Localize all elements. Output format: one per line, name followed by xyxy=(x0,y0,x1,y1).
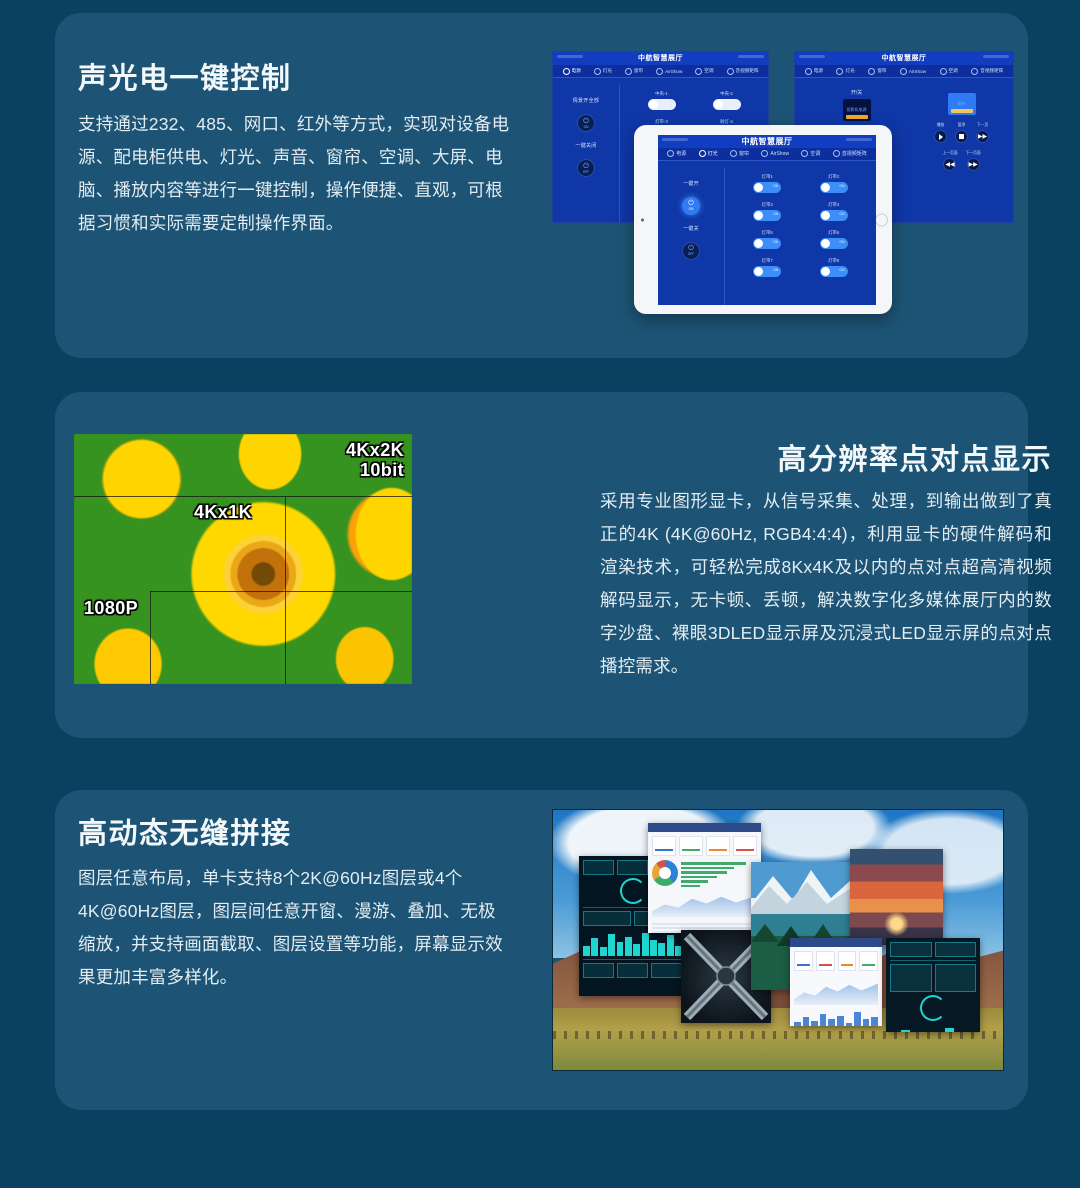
switch-label: 灯带4 xyxy=(828,202,839,208)
nav-item-light[interactable]: 灯光 xyxy=(699,150,718,157)
device-toggle-label: 开/关 xyxy=(851,89,862,96)
control-nav-bar: 电源 灯光 窗帘 AirShow 空调 音视频矩阵 xyxy=(553,65,768,78)
toggle-state: ON xyxy=(839,184,844,188)
matrix-icon xyxy=(833,150,840,157)
kpi-card xyxy=(794,951,813,971)
layer-window-light-chart-dashboard[interactable] xyxy=(790,938,882,1026)
next-page-icon: ▶▶ xyxy=(967,158,980,171)
control-screen-titlebar: 中航智慧展厅 xyxy=(795,52,1013,65)
toggle-knob xyxy=(714,100,723,109)
area-chart xyxy=(794,979,878,1005)
toggle-switch[interactable]: ON xyxy=(753,210,781,221)
toggle-switch[interactable] xyxy=(648,99,676,110)
dark-kpi-row xyxy=(890,964,976,992)
nav-item-ac[interactable]: 空调 xyxy=(801,150,820,157)
section-title-one-key-control: 声光电一键控制 xyxy=(78,55,292,97)
power-icon xyxy=(667,150,674,157)
area-chart xyxy=(652,891,757,917)
tablet-device: 中航智慧展厅 电源 灯光 窗帘 AirShow xyxy=(634,125,892,314)
control-nav-bar: 电源 灯光 窗帘 AirShow 空调 音视频矩阵 xyxy=(795,65,1013,78)
bulb-icon xyxy=(836,68,843,75)
nav-label-matrix: 音视频矩阵 xyxy=(736,68,759,74)
nav-label-power: 电源 xyxy=(572,68,581,74)
page-nav-label: 上一页面 xyxy=(942,151,957,156)
dashboard-header-bar xyxy=(648,823,761,832)
toggle-switch[interactable]: ON xyxy=(820,182,848,193)
toggle-state: ON xyxy=(773,184,778,188)
nav-label-matrix: 音视频矩阵 xyxy=(980,68,1003,74)
scene-column: 一键开 ⏻ ON 一键关 ⏻ OFF xyxy=(658,168,725,305)
toggle-knob xyxy=(821,267,830,276)
switch-cell: 灯带3 ON xyxy=(737,202,798,221)
switch-label: 灯带5 xyxy=(762,230,773,236)
prev-page-icon: ◀◀ xyxy=(943,158,956,171)
gauge-ring-icon xyxy=(620,878,646,904)
nav-label-light: 灯光 xyxy=(603,68,612,74)
toggle-knob xyxy=(821,183,830,192)
scene-on-state: ON xyxy=(584,125,589,129)
power-icon xyxy=(805,68,812,75)
page-next[interactable]: 下一页面 ▶▶ xyxy=(966,151,981,171)
nav-item-curtain[interactable]: 窗帘 xyxy=(868,68,886,75)
resolution-label-4kx2k: 4Kx2K xyxy=(346,440,404,461)
nav-label-airshow: AirShow xyxy=(665,69,682,74)
airshow-icon xyxy=(900,68,907,75)
charts-row xyxy=(648,860,761,887)
switch-cell: 中央-2 xyxy=(697,91,756,110)
resolution-comparison-image: 4Kx2K 10bit 4Kx1K 1080P xyxy=(74,434,412,684)
transport-pause[interactable]: 暂停 xyxy=(955,123,968,143)
transport-play[interactable]: 播放 xyxy=(934,123,947,143)
switch-cell: 中央-1 xyxy=(632,91,691,110)
scene-on-label: 情景开全部 xyxy=(573,97,600,104)
section-body-point-to-point-display: 采用专业图形显卡，从信号采集、处理，到输出做到了真正的4K (4K@60Hz, … xyxy=(600,485,1052,683)
projector-tile-label: 投影机电源 xyxy=(847,107,867,113)
nav-item-airshow[interactable]: AirShow xyxy=(900,68,926,75)
playback-column: 幕布 播放 暂停 下一页 ▶▶ xyxy=(916,89,1007,223)
nav-label-light: 灯光 xyxy=(708,150,718,157)
switch-label: 灯带7 xyxy=(762,258,773,264)
toggle-knob xyxy=(754,183,763,192)
scene-column: 情景开全部 ⏻ ON 一键关闭 ⏻ OFF xyxy=(553,85,620,223)
toggle-switch[interactable]: ON xyxy=(753,266,781,277)
curtain-icon xyxy=(868,68,875,75)
grid-line-vertical-4kx1k xyxy=(285,496,286,684)
airshow-icon xyxy=(656,68,663,75)
gauge-ring-icon xyxy=(920,995,946,1021)
screen-tile-label: 幕布 xyxy=(958,101,966,107)
toggle-switch[interactable] xyxy=(713,99,741,110)
toggle-switch[interactable]: ON xyxy=(753,182,781,193)
toggle-knob xyxy=(754,239,763,248)
control-brand-title: 中航智慧展厅 xyxy=(553,53,768,63)
toggle-knob xyxy=(649,100,658,109)
nav-item-matrix[interactable]: 音视频矩阵 xyxy=(727,68,759,75)
grid-line-vertical-1080p xyxy=(150,591,151,684)
scene-off-button[interactable]: ⏻ OFF xyxy=(577,159,595,177)
nav-item-curtain[interactable]: 窗帘 xyxy=(730,150,749,157)
dark-kpi-row xyxy=(890,942,976,957)
nav-label-power: 电源 xyxy=(814,68,823,74)
toggle-state: ON xyxy=(839,212,844,216)
nav-item-airshow[interactable]: AirShow xyxy=(761,150,789,157)
dashboard-header-bar xyxy=(790,938,882,947)
switch-label: 灯带2 xyxy=(828,174,839,180)
switch-cell: 灯带1 ON xyxy=(737,174,798,193)
control-system-visual: 中航智慧展厅 电源 灯光 窗帘 AirShow 空调 xyxy=(552,47,1012,314)
horizontal-bar-chart xyxy=(681,860,757,887)
control-brand-title: 中航智慧展厅 xyxy=(658,136,876,147)
section-body-one-key-control: 支持通过232、485、网口、红外等方式，实现对设备电源、配电柜供电、灯光、声音… xyxy=(78,108,510,240)
camera-icon xyxy=(641,218,644,221)
bulb-icon xyxy=(699,150,706,157)
nav-item-power[interactable]: 电源 xyxy=(805,68,823,75)
switch-cell: 灯带2 ON xyxy=(804,174,865,193)
transport-label: 播放 xyxy=(937,123,945,128)
nav-item-light[interactable]: 灯光 xyxy=(836,68,854,75)
kpi-card xyxy=(706,836,730,856)
scene-on-label: 一键开 xyxy=(683,180,699,187)
transport-row: 播放 暂停 下一页 ▶▶ xyxy=(934,123,989,143)
donut-chart xyxy=(652,860,678,886)
toggle-state: ON xyxy=(773,268,778,272)
switch-cell: 灯带4 ON xyxy=(804,202,865,221)
scene-off-label: 一键关 xyxy=(683,225,699,232)
nav-item-power[interactable]: 电源 xyxy=(563,68,581,75)
nav-label-ac: 空调 xyxy=(949,68,958,74)
grid-line-horizontal-1080p xyxy=(150,591,412,592)
toggle-knob xyxy=(754,211,763,220)
transport-label: 下一页 xyxy=(977,123,988,128)
toggle-state: ON xyxy=(839,240,844,244)
scene-on-state: ON xyxy=(689,207,694,211)
scene-off-state: OFF xyxy=(583,170,589,174)
nav-item-matrix[interactable]: 音视频矩阵 xyxy=(833,150,867,157)
switch-label: 灯带6 xyxy=(828,230,839,236)
ac-icon xyxy=(801,150,808,157)
dark-bar-chart xyxy=(890,1025,976,1032)
nav-label-power: 电源 xyxy=(676,150,686,157)
toggle-state: ON xyxy=(773,212,778,216)
toggle-knob xyxy=(821,211,830,220)
nav-label-ac: 空调 xyxy=(810,150,820,157)
switch-label: 灯带8 xyxy=(828,258,839,264)
switch-label: 中央-1 xyxy=(655,91,668,97)
switch-label: 灯带1 xyxy=(762,174,773,180)
scene-off-label: 一键关闭 xyxy=(575,142,596,149)
switch-label: 灯带3 xyxy=(762,202,773,208)
scene-on-button[interactable]: ⏻ ON xyxy=(682,197,700,215)
nav-item-ac[interactable]: 空调 xyxy=(940,68,958,75)
control-nav-bar: 电源 灯光 窗帘 AirShow 空调 xyxy=(658,148,876,161)
transport-next[interactable]: 下一页 ▶▶ xyxy=(976,123,989,143)
nav-label-light: 灯光 xyxy=(845,68,854,74)
nav-item-light[interactable]: 灯光 xyxy=(594,68,612,75)
toggle-knob xyxy=(754,267,763,276)
nav-item-ac[interactable]: 空调 xyxy=(695,68,713,75)
resolution-label-1080p: 1080P xyxy=(84,598,138,619)
kpi-card xyxy=(816,951,835,971)
kpi-card xyxy=(679,836,703,856)
nav-label-airshow: AirShow xyxy=(909,69,926,74)
tablet-control-screen: 中航智慧展厅 电源 灯光 窗帘 AirShow xyxy=(658,135,876,305)
control-brand-title: 中航智慧展厅 xyxy=(795,53,1013,63)
screen-tile[interactable]: 幕布 xyxy=(948,93,976,115)
toggle-state: ON xyxy=(839,268,844,272)
section-title-point-to-point-display: 高分辨率点对点显示 xyxy=(777,436,1052,478)
nav-label-ac: 空调 xyxy=(704,68,713,74)
kpi-card-row xyxy=(790,947,882,975)
resolution-label-10bit: 10bit xyxy=(360,460,404,481)
switch-label: 中央-2 xyxy=(720,91,733,97)
toggle-knob xyxy=(821,239,830,248)
nav-label-curtain: 窗帘 xyxy=(739,150,749,157)
scene-off-state: OFF xyxy=(688,252,694,256)
scene-off-button[interactable]: ⏻ OFF xyxy=(682,242,700,260)
nav-item-airshow[interactable]: AirShow xyxy=(656,68,682,75)
dark-kpi-row xyxy=(583,963,682,978)
control-screen-titlebar: 中航智慧展厅 xyxy=(553,52,768,65)
layer-window-light-bi-dashboard[interactable] xyxy=(648,823,761,933)
vertical-bar-chart xyxy=(794,1009,878,1026)
page-nav-label: 下一页面 xyxy=(966,151,981,156)
layer-window-sunset-photo[interactable] xyxy=(850,849,943,945)
projector-power-tile[interactable]: 投影机电源 xyxy=(843,99,871,121)
toggle-switch[interactable]: ON xyxy=(820,266,848,277)
switch-cell: 灯带7 ON xyxy=(737,258,798,277)
transport-label: 暂停 xyxy=(958,123,966,128)
toggle-switch[interactable]: ON xyxy=(753,238,781,249)
matrix-icon xyxy=(727,68,734,75)
layer-window-dark-dashboard-right[interactable] xyxy=(886,938,980,1032)
ac-icon xyxy=(940,68,947,75)
bulb-icon xyxy=(594,68,601,75)
kpi-card xyxy=(733,836,757,856)
kpi-card-row xyxy=(648,832,761,860)
section-body-seamless-splicing: 图层任意布局，单卡支持8个2K@60Hz图层或4个4K@60Hz图层，图层间任意… xyxy=(78,862,510,994)
toggle-switch[interactable]: ON xyxy=(820,210,848,221)
dark-bar-chart xyxy=(583,930,682,956)
switch-cell: 灯带8 ON xyxy=(804,258,865,277)
nav-label-curtain: 窗帘 xyxy=(877,68,886,74)
play-icon xyxy=(934,130,947,143)
control-screen-titlebar: 中航智慧展厅 xyxy=(658,135,876,148)
ac-icon xyxy=(695,68,702,75)
matrix-icon xyxy=(971,68,978,75)
power-icon xyxy=(563,68,570,75)
switch-cell: 灯带5 ON xyxy=(737,230,798,249)
video-wall-visual xyxy=(552,809,1004,1071)
airshow-icon xyxy=(761,150,768,157)
page-nav-row: 上一页面 ◀◀ 下一页面 ▶▶ xyxy=(942,151,980,171)
curtain-icon xyxy=(730,150,737,157)
nav-label-airshow: AirShow xyxy=(770,151,789,157)
nav-label-matrix: 音视频矩阵 xyxy=(842,150,867,157)
toggle-switch[interactable]: ON xyxy=(820,238,848,249)
nav-item-power[interactable]: 电源 xyxy=(667,150,686,157)
toggle-state: ON xyxy=(773,240,778,244)
switch-grid: 灯带1 ON 灯带2 ON 灯带3 xyxy=(725,168,876,305)
control-screen-body: 一键开 ⏻ ON 一键关 ⏻ OFF 灯带1 xyxy=(658,161,876,305)
kpi-card xyxy=(838,951,857,971)
grid-line-horizontal-4kx1k xyxy=(74,496,412,497)
section-title-seamless-splicing: 高动态无缝拼接 xyxy=(78,810,292,852)
next-icon: ▶▶ xyxy=(976,130,989,143)
stop-icon xyxy=(955,130,968,143)
curtain-icon xyxy=(625,68,632,75)
home-button[interactable] xyxy=(875,213,888,226)
scene-on-button[interactable]: ⏻ ON xyxy=(577,114,595,132)
nav-label-curtain: 窗帘 xyxy=(634,68,643,74)
kpi-card xyxy=(859,951,878,971)
nav-item-curtain[interactable]: 窗帘 xyxy=(625,68,643,75)
page-prev[interactable]: 上一页面 ◀◀ xyxy=(942,151,957,171)
resolution-label-4kx1k: 4Kx1K xyxy=(194,502,252,523)
kpi-card xyxy=(652,836,676,856)
switch-cell: 灯带6 ON xyxy=(804,230,865,249)
nav-item-matrix[interactable]: 音视频矩阵 xyxy=(971,68,1003,75)
